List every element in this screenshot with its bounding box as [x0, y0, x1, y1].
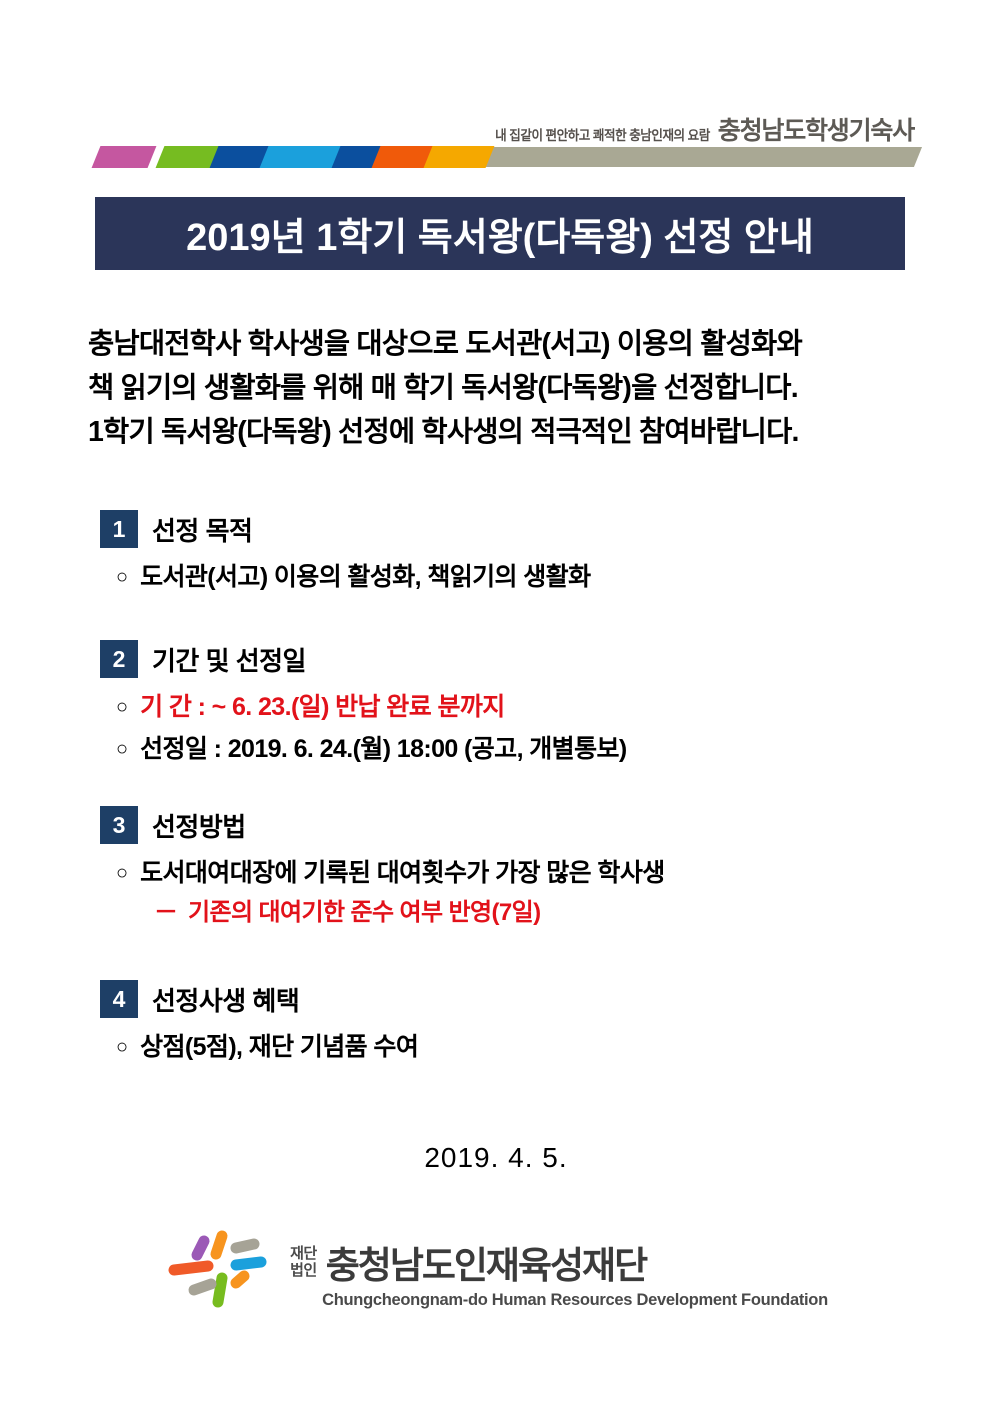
section-1: 1 선정 목적 ○ 도서관(서고) 이용의 활성화, 책읽기의 생활화 — [100, 510, 960, 594]
section-3-bullet-1-text: 도서대여대장에 기록된 대여횟수가 가장 많은 학사생 — [140, 856, 665, 890]
list-item: ○ 도서관(서고) 이용의 활성화, 책읽기의 생활화 — [116, 560, 960, 594]
header-tagline: 내 집같이 편안하고 쾌적한 충남인재의 요람 — [495, 124, 710, 147]
section-2-header: 2 기간 및 선정일 — [100, 640, 960, 678]
bullet-circle-icon: ○ — [116, 1030, 128, 1064]
section-1-bullet-1-text: 도서관(서고) 이용의 활성화, 책읽기의 생활화 — [140, 560, 590, 594]
footer-logo-prefix-line1: 재단 — [290, 1245, 317, 1262]
footer-logo-name-row: 재단 법인 충청남도인재육성재단 — [290, 1235, 828, 1289]
section-1-number: 1 — [100, 510, 138, 548]
ribbon-segment-amber — [424, 146, 495, 168]
document-title-bar: 2019년 1학기 독서왕(다독왕) 선정 안내 — [95, 197, 905, 270]
document-date: 2019. 4. 5. — [0, 1142, 992, 1174]
list-item: ○ 선정일 : 2019. 6. 24.(월) 18:00 (공고, 개별통보) — [116, 732, 960, 766]
page-title: 2019년 1학기 독서왕(다독왕) 선정 안내 — [186, 206, 814, 261]
bullet-circle-icon: ○ — [116, 856, 128, 890]
bullet-circle-icon: ○ — [116, 690, 128, 724]
list-item: ○ 상점(5점), 재단 기념품 수여 — [116, 1030, 960, 1064]
intro-line-2: 책 읽기의 생활화를 위해 매 학기 독서왕(다독왕)을 선정합니다. — [88, 366, 918, 410]
section-2-title: 기간 및 선정일 — [152, 641, 306, 678]
section-4-header: 4 선정사생 혜택 — [100, 980, 960, 1018]
footer-logo-prefix: 재단 법인 — [290, 1245, 317, 1279]
section-2-bullets: ○ 기 간 : ~ 6. 23.(일) 반납 완료 분까지 ○ 선정일 : 20… — [100, 690, 960, 766]
section-2-bullet-1-text: 기 간 : ~ 6. 23.(일) 반납 완료 분까지 — [140, 690, 505, 724]
section-3-header: 3 선정방법 — [100, 806, 960, 844]
section-4-title: 선정사생 혜택 — [152, 981, 299, 1018]
section-3-subnote-text: 기존의 대여기한 준수 여부 반영(7일) — [188, 896, 541, 930]
ribbon-segment-magenta — [92, 146, 157, 168]
decorative-color-ribbon — [0, 146, 992, 168]
header-brand-group: 내 집같이 편안하고 쾌적한 충남인재의 요람 충청남도학생기숙사 — [479, 111, 914, 147]
section-2-number: 2 — [100, 640, 138, 678]
section-3-subnote: － 기존의 대여기한 준수 여부 반영(7일) — [116, 896, 960, 930]
intro-paragraph: 충남대전학사 학사생을 대상으로 도서관(서고) 이용의 활성화와 책 읽기의 … — [88, 322, 918, 454]
section-2-bullet-2-text: 선정일 : 2019. 6. 24.(월) 18:00 (공고, 개별통보) — [140, 732, 627, 766]
intro-line-1: 충남대전학사 학사생을 대상으로 도서관(서고) 이용의 활성화와 — [88, 322, 918, 366]
section-1-title: 선정 목적 — [152, 511, 252, 548]
header-brand-name: 충청남도학생기숙사 — [718, 111, 914, 147]
footer-logo-text: 재단 법인 충청남도인재육성재단 Chungcheongnam-do Human… — [290, 1235, 828, 1310]
section-4: 4 선정사생 혜택 ○ 상점(5점), 재단 기념품 수여 — [100, 980, 960, 1064]
section-1-header: 1 선정 목적 — [100, 510, 960, 548]
section-3: 3 선정방법 ○ 도서대여대장에 기록된 대여횟수가 가장 많은 학사생 － 기… — [100, 806, 960, 930]
section-4-bullet-1-text: 상점(5점), 재단 기념품 수여 — [140, 1030, 418, 1064]
page-header: 내 집같이 편안하고 쾌적한 충남인재의 요람 충청남도학생기숙사 — [0, 105, 992, 180]
pinwheel-logo-icon — [164, 1228, 274, 1316]
bullet-circle-icon: ○ — [116, 732, 128, 766]
section-2: 2 기간 및 선정일 ○ 기 간 : ~ 6. 23.(일) 반납 완료 분까지… — [100, 640, 960, 766]
section-3-number: 3 — [100, 806, 138, 844]
section-4-number: 4 — [100, 980, 138, 1018]
list-item: ○ 도서대여대장에 기록된 대여횟수가 가장 많은 학사생 — [116, 856, 960, 890]
section-1-bullets: ○ 도서관(서고) 이용의 활성화, 책읽기의 생활화 — [100, 560, 960, 594]
list-item: ○ 기 간 : ~ 6. 23.(일) 반납 완료 분까지 — [116, 690, 960, 724]
intro-line-3: 1학기 독서왕(다독왕) 선정에 학사생의 적극적인 참여바랍니다. — [88, 410, 918, 454]
bullet-circle-icon: ○ — [116, 560, 128, 594]
footer-logo-prefix-line2: 법인 — [290, 1262, 317, 1279]
footer-organization-name: 충청남도인재육성재단 — [326, 1235, 646, 1289]
footer-organization-logo: 재단 법인 충청남도인재육성재단 Chungcheongnam-do Human… — [0, 1228, 992, 1316]
footer-organization-name-en: Chungcheongnam-do Human Resources Develo… — [322, 1291, 828, 1310]
section-3-bullets: ○ 도서대여대장에 기록된 대여횟수가 가장 많은 학사생 － 기존의 대여기한… — [100, 856, 960, 930]
dash-icon: － — [154, 896, 178, 930]
section-3-title: 선정방법 — [152, 807, 246, 844]
section-4-bullets: ○ 상점(5점), 재단 기념품 수여 — [100, 1030, 960, 1064]
